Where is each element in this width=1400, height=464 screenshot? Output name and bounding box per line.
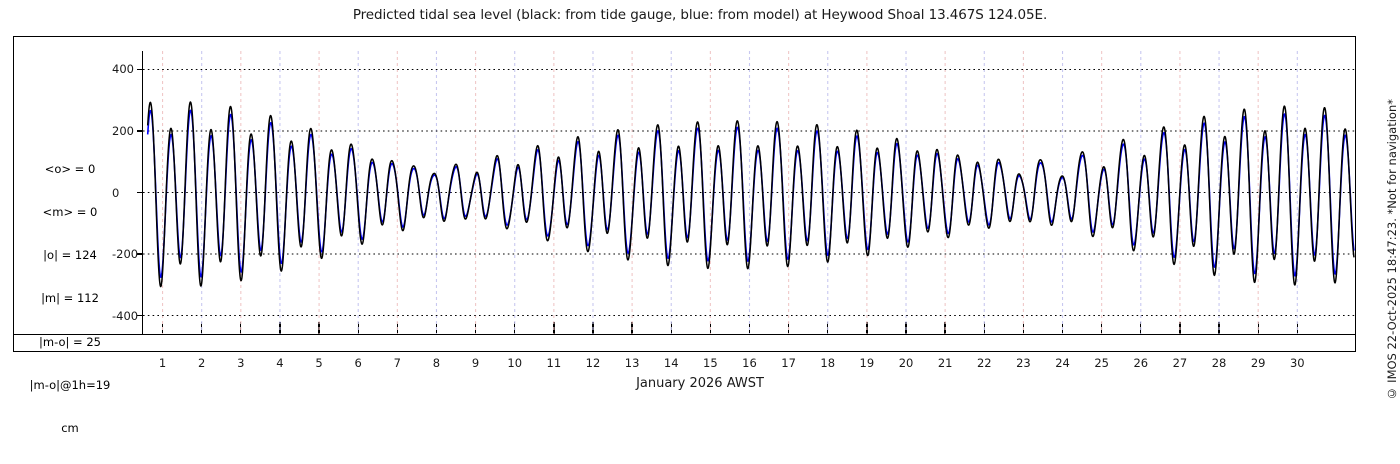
model-series-line: [148, 110, 1354, 277]
x-tick-label: 13: [617, 356, 647, 370]
y-tick-label: -400: [112, 309, 138, 323]
x-tick-label: 23: [1008, 356, 1038, 370]
x-tick-label: 3: [226, 356, 256, 370]
x-tick-label: 15: [695, 356, 725, 370]
statistics-block: <o> = 0 <m> = 0 |o| = 124 |m| = 112 |m-o…: [14, 133, 126, 464]
x-tick-label: 20: [891, 356, 921, 370]
observed-series-line: [148, 102, 1354, 286]
x-tick-label: 14: [656, 356, 686, 370]
x-tick-label: 21: [930, 356, 960, 370]
copyright-notice: © IMOS 22-Oct-2025 18:47:23. *Not for na…: [1383, 0, 1400, 400]
x-tick-label: 19: [852, 356, 882, 370]
copyright-text: © IMOS 22-Oct-2025 18:47:23. *Not for na…: [1385, 97, 1399, 400]
x-tick-label: 24: [1048, 356, 1078, 370]
stat-abs-diff: |m-o| = 25: [14, 335, 126, 349]
x-tick-label: 2: [187, 356, 217, 370]
x-tick-label: 7: [382, 356, 412, 370]
x-tick-label: 8: [421, 356, 451, 370]
x-tick-label: 26: [1126, 356, 1156, 370]
stat-units: cm: [14, 421, 126, 435]
page-title: Predicted tidal sea level (black: from t…: [0, 7, 1400, 23]
x-tick-label: 29: [1243, 356, 1273, 370]
y-tick-label: 200: [112, 124, 134, 138]
x-tick-label: 28: [1204, 356, 1234, 370]
x-tick-label: 16: [735, 356, 765, 370]
x-tick-label: 17: [774, 356, 804, 370]
x-tick-label: 4: [265, 356, 295, 370]
x-tick-label: 30: [1282, 356, 1312, 370]
tide-series-svg: [143, 51, 1356, 334]
plot-area: [143, 51, 1356, 334]
x-tick-label: 18: [813, 356, 843, 370]
x-tick-label: 6: [343, 356, 373, 370]
x-tick-label: 10: [500, 356, 530, 370]
x-axis-title: January 2026 AWST: [0, 376, 1400, 391]
tidal-chart-page: Predicted tidal sea level (black: from t…: [0, 0, 1400, 400]
x-tick-label: 12: [578, 356, 608, 370]
stat-mean-observed: <o> = 0: [14, 162, 126, 176]
x-tick-label: 5: [304, 356, 334, 370]
x-tick-label: 11: [539, 356, 569, 370]
y-tick-label: -200: [112, 247, 138, 261]
x-tick-label: 9: [461, 356, 491, 370]
x-tick-label: 22: [969, 356, 999, 370]
x-tick-label: 25: [1087, 356, 1117, 370]
y-tick-label: 0: [112, 186, 119, 200]
stat-abs-observed: |o| = 124: [14, 248, 126, 262]
x-tick-label: 27: [1165, 356, 1195, 370]
stat-abs-model: |m| = 112: [14, 291, 126, 305]
y-tick-label: 400: [112, 62, 134, 76]
x-tick-label: 1: [148, 356, 178, 370]
stat-mean-model: <m> = 0: [14, 205, 126, 219]
